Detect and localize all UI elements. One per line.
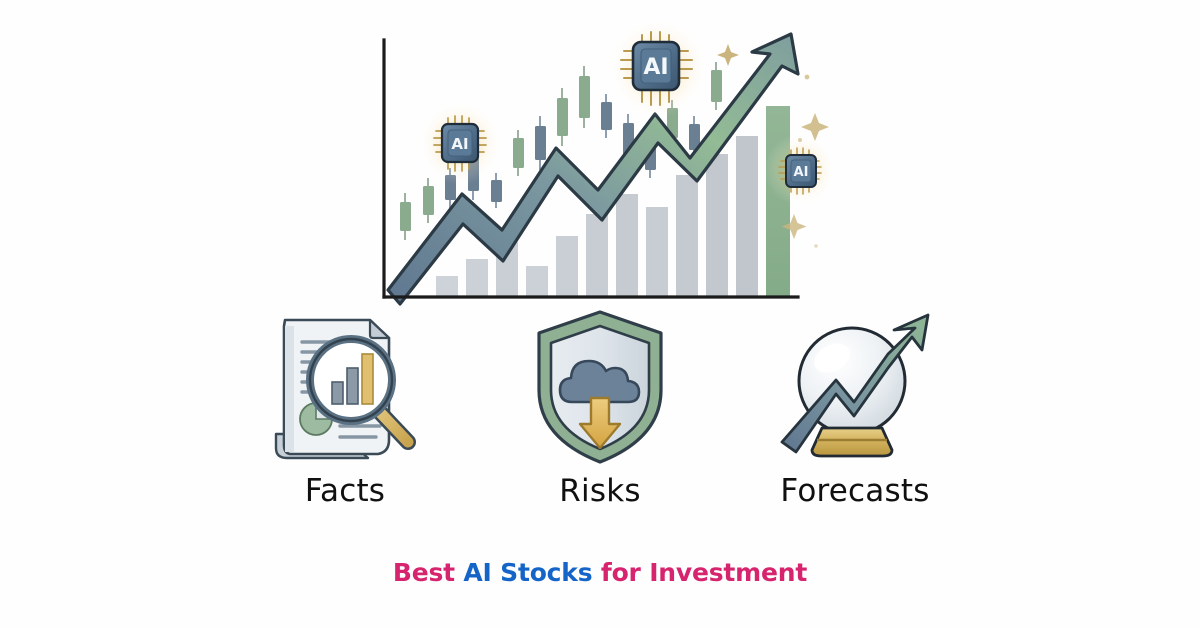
title-part-ai-stocks: AI Stocks xyxy=(463,558,601,587)
ai-chip-badge-left: AI xyxy=(418,101,502,185)
svg-text:AI: AI xyxy=(643,55,668,80)
svg-text:AI: AI xyxy=(794,165,809,180)
title-part-for-investment: for Investment xyxy=(601,558,807,587)
crystal-ball-trend-icon xyxy=(768,306,943,468)
ai-chip-badge-top: AI xyxy=(608,18,708,118)
ai-stock-growth-illustration: AI AI xyxy=(370,18,830,310)
pillar-label-facts: Facts xyxy=(305,474,385,508)
pillar-risks[interactable]: Risks xyxy=(485,306,715,508)
svg-text:AI: AI xyxy=(451,135,468,153)
pillar-label-risks: Risks xyxy=(559,474,640,508)
pillar-forecasts[interactable]: Forecasts xyxy=(740,306,970,508)
poster-canvas: AI AI xyxy=(0,0,1200,628)
page-title: Best AI Stocks for Investment xyxy=(0,558,1200,587)
title-part-best: Best xyxy=(393,558,464,587)
shield-cloud-down-arrow-icon xyxy=(513,306,688,468)
document-magnifier-icon xyxy=(258,306,433,468)
pillar-label-forecasts: Forecasts xyxy=(780,474,929,508)
pillar-row: Facts xyxy=(230,306,970,524)
pillar-facts[interactable]: Facts xyxy=(230,306,460,508)
